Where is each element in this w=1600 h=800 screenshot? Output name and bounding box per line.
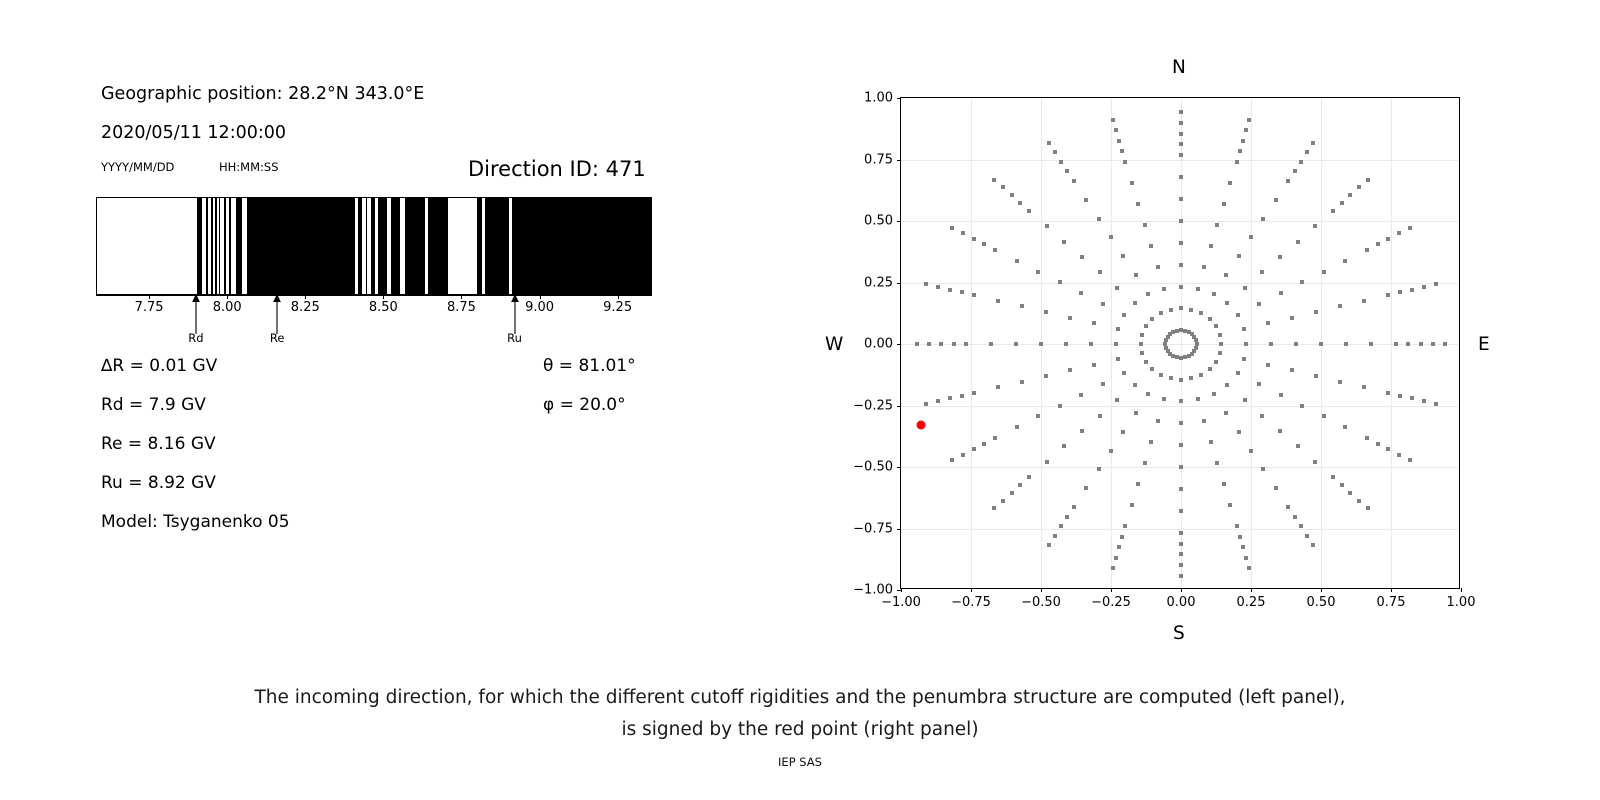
- direction-point: [960, 290, 964, 294]
- direction-point: [1179, 509, 1183, 513]
- direction-point: [1044, 310, 1048, 314]
- datetime-label: 2020/05/11 12:00:00: [101, 123, 286, 143]
- direction-point: [1062, 444, 1066, 448]
- direction-point: [1179, 197, 1183, 201]
- direction-point: [1376, 242, 1380, 246]
- direction-point: [1243, 398, 1247, 402]
- x-axis-tick: [1461, 588, 1462, 592]
- direction-point: [1235, 160, 1239, 164]
- direction-point: [1001, 185, 1005, 189]
- rigidity-marker-arrow-re: [272, 294, 283, 334]
- direction-point: [1179, 487, 1183, 491]
- direction-point: [1146, 292, 1150, 296]
- direction-point: [961, 453, 965, 457]
- direction-point: [1059, 160, 1063, 164]
- direction-point: [1294, 342, 1298, 346]
- penumbra-axis-tick: [227, 295, 228, 299]
- direction-point: [1406, 342, 1410, 346]
- direction-point: [961, 231, 965, 235]
- direction-point: [1080, 429, 1084, 433]
- direction-point: [1422, 399, 1426, 403]
- penumbra-axis-tick: [461, 295, 462, 299]
- direction-point: [1143, 461, 1147, 465]
- direction-point: [1097, 467, 1101, 471]
- direction-point: [1269, 342, 1273, 346]
- direction-point: [1123, 524, 1127, 528]
- direction-point: [1120, 535, 1124, 539]
- direction-point: [972, 237, 976, 241]
- direction-point: [1398, 394, 1402, 398]
- direction-point: [1322, 414, 1326, 418]
- rigidity-marker-label-ru: Ru: [507, 331, 522, 345]
- penumbra-axis-tick: [305, 295, 306, 299]
- direction-point: [1279, 291, 1283, 295]
- direction-point: [1179, 531, 1183, 535]
- direction-point: [927, 342, 931, 346]
- direction-point: [1136, 202, 1140, 206]
- direction-point: [960, 394, 964, 398]
- direction-point: [1179, 574, 1183, 578]
- direction-point: [1072, 179, 1076, 183]
- direction-point: [972, 293, 976, 297]
- direction-point: [1027, 475, 1031, 479]
- direction-point: [1331, 475, 1335, 479]
- direction-point: [1319, 342, 1323, 346]
- penumbra-forbidden-band: [206, 198, 208, 294]
- direction-point: [1122, 313, 1126, 317]
- direction-point: [1187, 354, 1191, 358]
- direction-point: [1369, 342, 1373, 346]
- direction-point: [1209, 244, 1213, 248]
- direction-point: [1237, 430, 1241, 434]
- direction-point: [1286, 179, 1290, 183]
- direction-point: [1116, 327, 1120, 331]
- direction-point: [1237, 254, 1241, 258]
- x-axis-tick: [1251, 588, 1252, 592]
- direction-point: [1020, 380, 1024, 384]
- direction-point: [1146, 392, 1150, 396]
- direction-point: [1340, 201, 1344, 205]
- direction-point: [1244, 342, 1248, 346]
- direction-point: [1218, 333, 1222, 337]
- direction-point: [1045, 460, 1049, 464]
- direction-point: [1293, 169, 1297, 173]
- direction-point: [1179, 263, 1183, 267]
- direction-point: [1331, 209, 1335, 213]
- direction-point: [1260, 270, 1264, 274]
- penumbra-axis-tick-label: 7.75: [135, 300, 164, 315]
- direction-point: [1179, 142, 1183, 146]
- x-axis-tick-label: 0.00: [1167, 595, 1196, 610]
- direction-point: [1422, 285, 1426, 289]
- direction-point: [1111, 118, 1115, 122]
- direction-point: [1014, 342, 1018, 346]
- direction-point: [1343, 425, 1347, 429]
- direction-point: [1357, 499, 1361, 503]
- direction-point: [1313, 460, 1317, 464]
- direction-id-label: Direction ID: 471: [468, 157, 646, 181]
- penumbra-axis-tick-label: 8.00: [213, 300, 242, 315]
- penumbra-forbidden-band: [219, 198, 221, 294]
- penumbra-forbidden-band: [428, 198, 448, 294]
- direction-point: [1089, 342, 1093, 346]
- x-axis-tick-label: −0.75: [951, 595, 991, 610]
- direction-point: [1322, 270, 1326, 274]
- penumbra-forbidden-band: [366, 198, 368, 294]
- direction-point: [1249, 235, 1253, 239]
- direction-point: [1199, 311, 1203, 315]
- penumbra-forbidden-band: [405, 198, 425, 294]
- direction-point: [1020, 304, 1024, 308]
- compass-label-east: E: [1478, 334, 1490, 355]
- penumbra-forbidden-band: [224, 198, 226, 294]
- penumbra-bar: [96, 197, 652, 295]
- value-rd: Rd = 7.9 GV: [101, 395, 206, 415]
- direction-point: [1179, 378, 1183, 382]
- penumbra-forbidden-band: [485, 198, 508, 294]
- caption-line-1: The incoming direction, for which the di…: [0, 682, 1600, 714]
- selected-direction-point[interactable]: [916, 421, 925, 430]
- penumbra-axis-tick-label: 8.75: [447, 300, 476, 315]
- direction-point: [1179, 153, 1183, 157]
- direction-point: [1045, 224, 1049, 228]
- direction-point: [924, 282, 928, 286]
- direction-point: [1238, 535, 1242, 539]
- direction-point: [1376, 442, 1380, 446]
- direction-point: [1235, 524, 1239, 528]
- y-axis-tick: [897, 467, 901, 468]
- direction-point: [1156, 419, 1160, 423]
- direction-point: [1058, 280, 1062, 284]
- direction-point: [1179, 132, 1183, 136]
- gridline-vertical: [971, 98, 972, 588]
- penumbra-forbidden-band: [229, 198, 231, 294]
- direction-point: [1084, 486, 1088, 490]
- direction-point: [993, 436, 997, 440]
- value-phi: φ = 20.0°: [543, 395, 626, 415]
- direction-point: [1179, 443, 1183, 447]
- direction-point: [1242, 357, 1246, 361]
- direction-point: [1143, 223, 1147, 227]
- direction-point: [1164, 346, 1168, 350]
- direction-point: [1408, 226, 1412, 230]
- direction-point: [1296, 444, 1300, 448]
- penumbra-forbidden-band: [211, 198, 213, 294]
- direction-point: [1209, 440, 1213, 444]
- penumbra-axis-tick-label: 9.25: [603, 300, 632, 315]
- direction-point: [1179, 552, 1183, 556]
- direction-point: [1116, 357, 1120, 361]
- y-axis-tick-label: 0.50: [864, 214, 893, 229]
- gridline-vertical: [1111, 98, 1112, 588]
- direction-point: [1162, 287, 1166, 291]
- direction-point: [1179, 175, 1183, 179]
- direction-point: [1247, 566, 1251, 570]
- direction-point: [1053, 150, 1057, 154]
- y-axis-tick: [897, 221, 901, 222]
- direction-point: [1305, 150, 1309, 154]
- penumbra-forbidden-band: [197, 198, 202, 294]
- direction-point: [1199, 373, 1203, 377]
- direction-point: [1228, 503, 1232, 507]
- direction-point: [1101, 302, 1105, 306]
- y-axis-tick-label: −0.25: [853, 398, 893, 413]
- gridline-horizontal: [901, 283, 1459, 284]
- direction-point: [939, 342, 943, 346]
- direction-point: [1159, 311, 1163, 315]
- direction-point: [924, 402, 928, 406]
- y-axis-tick-label: 0.75: [864, 152, 893, 167]
- direction-point: [1225, 301, 1229, 305]
- direction-map-axes: −1.00−0.75−0.50−0.250.000.250.500.751.00…: [900, 97, 1460, 589]
- direction-point: [1215, 223, 1219, 227]
- penumbra-forbidden-band: [512, 198, 652, 294]
- direction-point: [1266, 363, 1270, 367]
- direction-point: [996, 385, 1000, 389]
- penumbra-axis-tick: [618, 295, 619, 299]
- direction-point: [1274, 486, 1278, 490]
- x-axis-tick: [1181, 588, 1182, 592]
- direction-point: [1293, 515, 1297, 519]
- direction-point: [1179, 241, 1183, 245]
- penumbra-forbidden-band: [477, 198, 482, 294]
- gridline-horizontal: [901, 160, 1459, 161]
- direction-point: [972, 447, 976, 451]
- penumbra-forbidden-band: [236, 198, 241, 294]
- penumbra-forbidden-band: [371, 198, 375, 294]
- direction-point: [1001, 499, 1005, 503]
- rigidity-marker-arrow-rd: [190, 294, 201, 334]
- penumbra-forbidden-band: [215, 198, 217, 294]
- penumbra-forbidden-band: [378, 198, 387, 294]
- direction-point: [1431, 342, 1435, 346]
- direction-point: [1305, 534, 1309, 538]
- direction-point: [1443, 342, 1447, 346]
- x-axis-tick-label: 0.25: [1237, 595, 1266, 610]
- y-axis-tick-label: −1.00: [853, 583, 893, 598]
- direction-point: [1134, 411, 1138, 415]
- direction-point: [1109, 449, 1113, 453]
- penumbra-axis-tick: [149, 295, 150, 299]
- direction-point: [1010, 491, 1014, 495]
- direction-point: [1179, 465, 1183, 469]
- direction-point: [1175, 329, 1179, 333]
- axis-line: [96, 295, 652, 296]
- penumbra-axis-tick-label: 9.00: [525, 300, 554, 315]
- direction-point: [948, 288, 952, 292]
- direction-point: [1062, 240, 1066, 244]
- direction-point: [1115, 286, 1119, 290]
- direction-point: [1241, 545, 1245, 549]
- direction-point: [936, 399, 940, 403]
- direction-point: [1144, 360, 1148, 364]
- value-model: Model: Tsyganenko 05: [101, 512, 290, 532]
- footer-label: IEP SAS: [0, 755, 1600, 769]
- gridline-horizontal: [901, 406, 1459, 407]
- gridline-vertical: [1181, 98, 1182, 588]
- direction-point: [1313, 224, 1317, 228]
- direction-point: [1244, 128, 1248, 132]
- rigidity-marker-label-re: Re: [270, 331, 285, 345]
- direction-point: [1109, 235, 1113, 239]
- direction-point: [1179, 306, 1183, 310]
- direction-point: [1189, 308, 1193, 312]
- direction-point: [1122, 371, 1126, 375]
- direction-point: [1408, 458, 1412, 462]
- direction-point: [1279, 393, 1283, 397]
- direction-point: [1163, 342, 1167, 346]
- direction-point: [1348, 193, 1352, 197]
- direction-point: [1111, 566, 1115, 570]
- direction-point: [1169, 376, 1173, 380]
- direction-point: [1101, 382, 1105, 386]
- direction-point: [1398, 290, 1402, 294]
- direction-point: [1134, 273, 1138, 277]
- direction-point: [1397, 453, 1401, 457]
- direction-point: [1047, 141, 1051, 145]
- penumbra-axis: 7.758.008.258.508.759.009.25RdReRu: [96, 295, 652, 350]
- direction-point: [1386, 391, 1390, 395]
- direction-point: [1047, 543, 1051, 547]
- direction-point: [1290, 368, 1294, 372]
- direction-point: [1314, 310, 1318, 314]
- geographic-position-label: Geographic position: 28.2°N 343.0°E: [101, 84, 424, 104]
- direction-point: [1018, 483, 1022, 487]
- direction-point: [993, 248, 997, 252]
- x-axis-tick: [1111, 588, 1112, 592]
- penumbra-axis-tick: [383, 295, 384, 299]
- compass-label-west: W: [825, 334, 843, 355]
- direction-point: [1214, 360, 1218, 364]
- direction-point: [1196, 397, 1200, 401]
- direction-point: [1175, 355, 1179, 359]
- direction-point: [1010, 193, 1014, 197]
- direction-point: [1121, 254, 1125, 258]
- direction-point: [1365, 248, 1369, 252]
- direction-point: [1338, 304, 1342, 308]
- direction-point: [1179, 121, 1183, 125]
- direction-point: [989, 342, 993, 346]
- direction-point: [1092, 321, 1096, 325]
- direction-point: [1202, 265, 1206, 269]
- direction-point: [1314, 374, 1318, 378]
- direction-point: [1224, 411, 1228, 415]
- x-axis-tick-label: −0.25: [1091, 595, 1131, 610]
- direction-point: [1162, 397, 1166, 401]
- direction-point: [1179, 542, 1183, 546]
- direction-point: [1130, 181, 1134, 185]
- direction-point: [1225, 383, 1229, 387]
- direction-point: [1117, 139, 1121, 143]
- direction-point: [1068, 368, 1072, 372]
- direction-point: [1053, 534, 1057, 538]
- direction-point: [1196, 287, 1200, 291]
- direction-point: [1338, 380, 1342, 384]
- direction-point: [1366, 178, 1370, 182]
- direction-point: [1311, 543, 1315, 547]
- direction-point: [1189, 376, 1193, 380]
- gridline-vertical: [1251, 98, 1252, 588]
- direction-point: [1299, 524, 1303, 528]
- value-ru: Ru = 8.92 GV: [101, 473, 216, 493]
- penumbra-forbidden-band: [247, 198, 355, 294]
- rigidity-marker-arrow-ru: [509, 294, 520, 334]
- y-axis-tick-label: 1.00: [864, 91, 893, 106]
- time-format-hint: HH:MM:SS: [219, 160, 279, 174]
- x-axis-tick: [1391, 588, 1392, 592]
- direction-point: [1140, 351, 1144, 355]
- x-axis-tick: [1041, 588, 1042, 592]
- penumbra-axis-tick-label: 8.50: [369, 300, 398, 315]
- direction-point: [1244, 556, 1248, 560]
- direction-point: [1036, 270, 1040, 274]
- direction-point: [1311, 141, 1315, 145]
- direction-point: [1149, 440, 1153, 444]
- direction-point: [1092, 363, 1096, 367]
- direction-point: [1218, 351, 1222, 355]
- x-axis-tick-label: 1.00: [1447, 595, 1476, 610]
- direction-point: [1159, 373, 1163, 377]
- direction-point: [1169, 308, 1173, 312]
- direction-point: [1238, 149, 1242, 153]
- direction-point: [1300, 404, 1304, 408]
- y-axis-tick-label: 0.00: [864, 337, 893, 352]
- direction-point: [1179, 563, 1183, 567]
- direction-point: [1208, 317, 1212, 321]
- direction-point: [1261, 217, 1265, 221]
- direction-point: [982, 442, 986, 446]
- direction-point: [1340, 483, 1344, 487]
- x-axis-tick-label: −0.50: [1021, 595, 1061, 610]
- direction-point: [1257, 382, 1261, 386]
- direction-point: [1098, 270, 1102, 274]
- y-axis-tick: [897, 283, 901, 284]
- x-axis-tick-label: 0.50: [1307, 595, 1336, 610]
- direction-point: [1150, 367, 1154, 371]
- value-theta: θ = 81.01°: [543, 356, 636, 376]
- y-axis-tick: [897, 344, 901, 345]
- direction-point: [1290, 316, 1294, 320]
- direction-point: [1117, 545, 1121, 549]
- direction-point: [1044, 374, 1048, 378]
- direction-point: [1278, 429, 1282, 433]
- direction-point: [1015, 259, 1019, 263]
- direction-point: [1039, 342, 1043, 346]
- direction-point: [1084, 198, 1088, 202]
- direction-point: [1098, 414, 1102, 418]
- direction-point: [1123, 160, 1127, 164]
- x-axis-tick-label: 0.75: [1377, 595, 1406, 610]
- y-axis-tick-label: 0.25: [864, 275, 893, 290]
- direction-point: [1386, 237, 1390, 241]
- direction-point: [1179, 219, 1183, 223]
- direction-point: [1212, 392, 1216, 396]
- direction-point: [1027, 209, 1031, 213]
- direction-point: [1068, 316, 1072, 320]
- direction-point: [1215, 461, 1219, 465]
- direction-point: [1059, 524, 1063, 528]
- direction-point: [1183, 355, 1187, 359]
- direction-point: [1299, 160, 1303, 164]
- left-panel: Geographic position: 28.2°N 343.0°E 2020…: [0, 0, 760, 660]
- value-delta-r: ∆R = 0.01 GV: [101, 356, 217, 376]
- direction-point: [1065, 515, 1069, 519]
- direction-point: [964, 342, 968, 346]
- y-axis-tick: [897, 529, 901, 530]
- y-axis-tick-label: −0.75: [853, 521, 893, 536]
- gridline-vertical: [1391, 98, 1392, 588]
- direction-point: [1150, 317, 1154, 321]
